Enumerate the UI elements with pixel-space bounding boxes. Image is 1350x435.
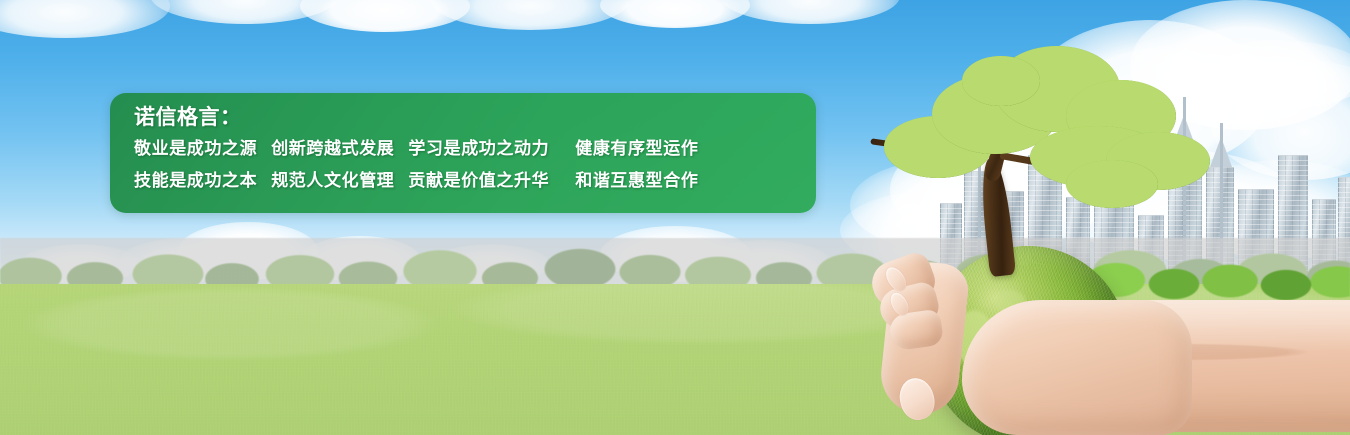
tree-foliage xyxy=(1066,160,1158,208)
bonsai-tree xyxy=(880,40,1240,280)
maxim-item: 学习是成功之动力 xyxy=(408,139,549,159)
maxim-item: 健康有序型运作 xyxy=(575,139,698,159)
panel-title: 诺信格言： xyxy=(134,107,816,128)
palm xyxy=(962,300,1192,435)
maxim-item: 规范人文化管理 xyxy=(271,171,394,191)
maxim-line-1: 敬业是成功之源创新跨越式发展学习是成功之动力健康有序型运作 xyxy=(134,141,816,158)
maxim-item: 技能是成功之本 xyxy=(134,171,257,191)
maxim-panel: 诺信格言： 敬业是成功之源创新跨越式发展学习是成功之动力健康有序型运作 技能是成… xyxy=(110,93,816,213)
eco-banner: 诺信格言： 敬业是成功之源创新跨越式发展学习是成功之动力健康有序型运作 技能是成… xyxy=(0,0,1350,435)
maxim-item: 和谐互惠型合作 xyxy=(575,171,698,191)
maxim-item: 贡献是价值之升华 xyxy=(408,171,549,191)
tree-foliage xyxy=(962,56,1040,106)
maxim-item: 创新跨越式发展 xyxy=(271,139,394,159)
maxim-line-2: 技能是成功之本规范人文化管理贡献是价值之升华和谐互惠型合作 xyxy=(134,173,816,190)
maxim-item: 敬业是成功之源 xyxy=(134,139,257,159)
